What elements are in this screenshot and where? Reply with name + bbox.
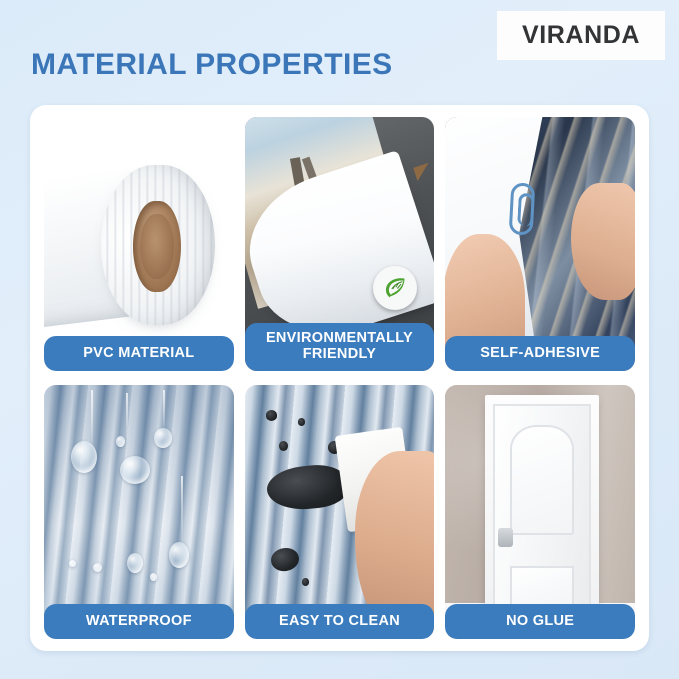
feature-card-self-adhesive[interactable]: SELF-ADHESIVE	[445, 117, 635, 371]
easy-to-clean-wipe-image	[245, 385, 435, 639]
pvc-roll-image	[44, 117, 234, 371]
feature-card-easy-to-clean[interactable]: EASY TO CLEAN	[245, 385, 435, 639]
feature-card-environmentally-friendly[interactable]: ENVIRONMENTALLY FRIENDLY	[245, 117, 435, 371]
feature-label-pvc-material: PVC MATERIAL	[44, 336, 234, 371]
feature-card-pvc-material[interactable]: PVC MATERIAL	[44, 117, 234, 371]
feature-label-waterproof: WATERPROOF	[44, 604, 234, 639]
no-glue-door-image	[445, 385, 635, 639]
brand-name: VIRANDA	[522, 21, 640, 50]
feature-grid: PVC MATERIAL ENVIRONMENTALLY FRI	[44, 117, 635, 639]
paperclip-icon	[508, 182, 535, 235]
leaf-icon	[373, 266, 417, 310]
feature-label-line-2: FRIENDLY	[303, 346, 377, 362]
feature-label-line-1: ENVIRONMENTALLY	[266, 330, 413, 346]
page-title: MATERIAL PROPERTIES	[31, 48, 393, 82]
feature-label-self-adhesive: SELF-ADHESIVE	[445, 336, 635, 371]
brand-logo-box: VIRANDA	[497, 11, 665, 60]
feature-card-no-glue[interactable]: NO GLUE	[445, 385, 635, 639]
self-adhesive-peel-image	[445, 117, 635, 371]
feature-label-no-glue: NO GLUE	[445, 604, 635, 639]
feature-label-easy-to-clean: EASY TO CLEAN	[245, 604, 435, 639]
door-handle-icon	[498, 528, 513, 547]
feature-label-environmentally-friendly: ENVIRONMENTALLY FRIENDLY	[245, 323, 435, 371]
feature-panel: PVC MATERIAL ENVIRONMENTALLY FRI	[30, 105, 649, 651]
waterproof-droplets-image	[44, 385, 234, 639]
feature-card-waterproof[interactable]: WATERPROOF	[44, 385, 234, 639]
